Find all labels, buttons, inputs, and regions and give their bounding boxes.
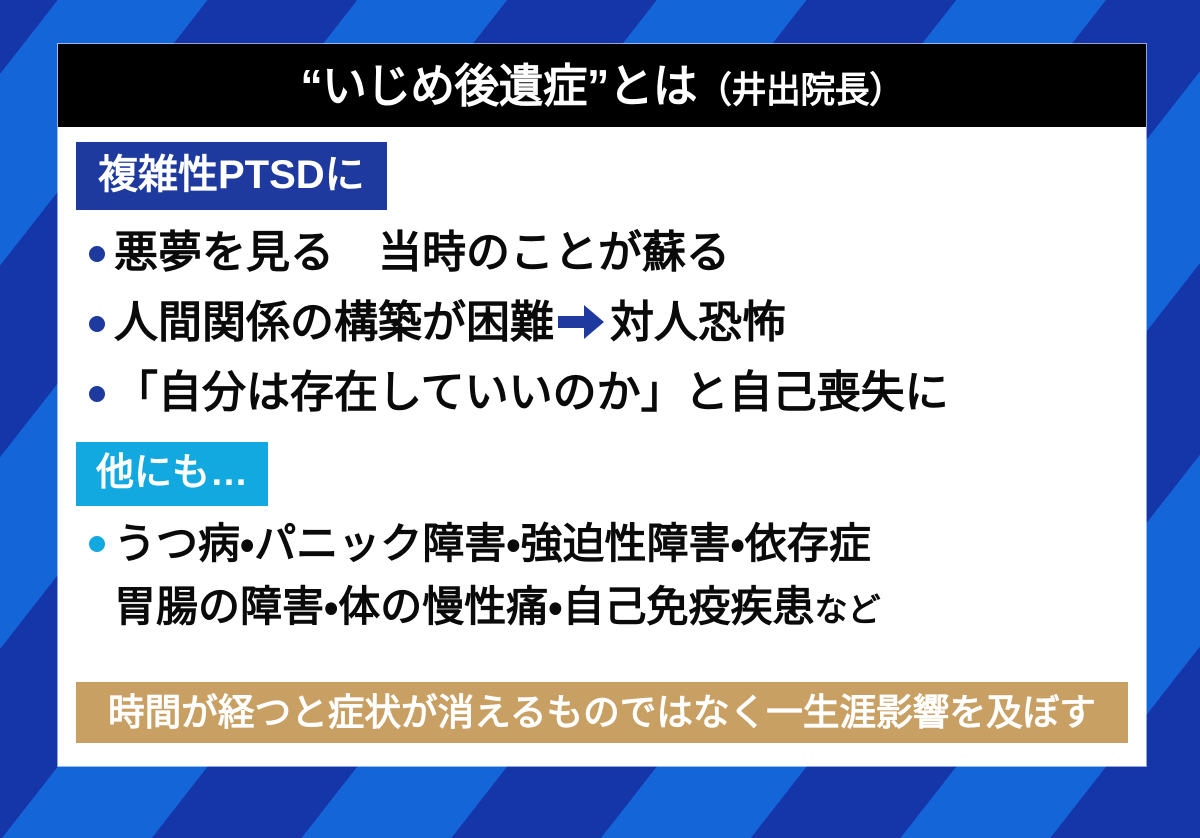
list-item: 人間関係の構築が困難対人恐怖 xyxy=(58,288,1146,358)
panel-title-attribution: （井出院長） xyxy=(697,69,904,110)
badge-other: 他にも… xyxy=(76,442,268,506)
right-arrow-icon xyxy=(558,290,604,360)
badge-complex-ptsd: 複雑性PTSDに xyxy=(76,142,387,210)
slide-stage: “いじめ後遺症”とは（井出院長） 複雑性PTSDに 悪夢を見る 当時のことが蘇る… xyxy=(0,0,1200,838)
footer-highlight-bar: 時間が経つと症状が消えるものではなく一生涯影響を及ぼす xyxy=(76,682,1128,743)
symptom-list-other: うつ病・パニック障害・強迫性障害・依存症 胃腸の障害・体の慢性痛・自己免疫疾患な… xyxy=(58,506,1146,641)
panel-body: 複雑性PTSDに 悪夢を見る 当時のことが蘇る 人間関係の構築が困難対人恐怖 「… xyxy=(58,127,1146,766)
footer-highlight-text: 時間が経つと症状が消えるものではなく一生涯影響を及ぼす xyxy=(108,694,1096,731)
section-header-complex-ptsd: 複雑性PTSDに xyxy=(58,127,1146,210)
list-item: 悪夢を見る 当時のことが蘇る xyxy=(58,218,1146,288)
list-item-line-2-text: 胃腸の障害・体の慢性痛・自己免疫疾患 xyxy=(114,583,815,630)
info-panel: “いじめ後遺症”とは（井出院長） 複雑性PTSDに 悪夢を見る 当時のことが蘇る… xyxy=(58,44,1146,766)
list-item-text-after-arrow: 対人恐怖 xyxy=(610,298,786,347)
section-header-other: 他にも… xyxy=(58,428,1146,506)
list-item-line-2-suffix: など xyxy=(815,591,881,628)
list-item: 「自分は存在していいのか」と自己喪失に xyxy=(58,358,1146,428)
panel-title-main: “いじめ後遺症”とは xyxy=(300,60,697,112)
list-item-text: 悪夢を見る 当時のことが蘇る xyxy=(114,228,730,277)
list-item-text-before-arrow: 人間関係の構築が困難 xyxy=(114,298,554,347)
symptom-list-complex-ptsd: 悪夢を見る 当時のことが蘇る 人間関係の構築が困難対人恐怖 「自分は存在していい… xyxy=(58,210,1146,428)
panel-title: “いじめ後遺症”とは（井出院長） xyxy=(300,63,903,109)
list-item: うつ病・パニック障害・強迫性障害・依存症 胃腸の障害・体の慢性痛・自己免疫疾患な… xyxy=(58,512,1146,641)
list-item-text: 「自分は存在していいのか」と自己喪失に xyxy=(114,368,949,417)
list-item-line-2: 胃腸の障害・体の慢性痛・自己免疫疾患など xyxy=(114,575,1146,641)
panel-title-bar: “いじめ後遺症”とは（井出院長） xyxy=(58,44,1146,127)
list-item-line-1: うつ病・パニック障害・強迫性障害・依存症 xyxy=(114,512,1146,575)
